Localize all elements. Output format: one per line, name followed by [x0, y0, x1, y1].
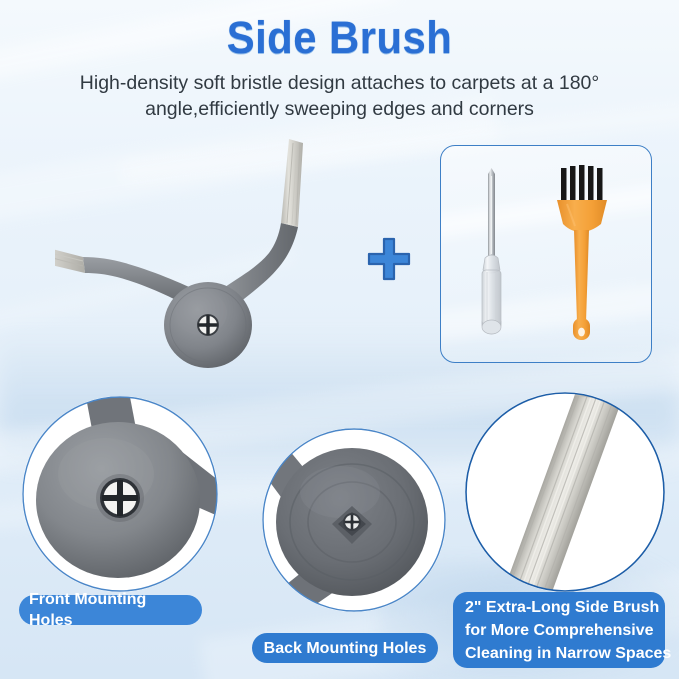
- plus-icon: [365, 235, 413, 283]
- side-brush-product-image: [55, 135, 355, 375]
- subtitle-line-2: angle,efficiently sweeping edges and cor…: [34, 96, 645, 122]
- page-title: Side Brush: [24, 12, 655, 64]
- caption-front-mounting-holes: Front Mounting Holes: [19, 595, 202, 625]
- caption-line-3: Cleaning in Narrow Spaces: [465, 642, 671, 665]
- caption-text: Back Mounting Holes: [264, 638, 427, 659]
- subtitle-line-1: High-density soft bristle design attache…: [80, 72, 599, 94]
- caption-extra-long-bristles: 2" Extra-Long Side Brush for More Compre…: [453, 592, 665, 668]
- bristle-tuft-right: [281, 139, 303, 227]
- caption-line-1: 2" Extra-Long Side Brush: [465, 596, 659, 619]
- cleaning-brush-icon: [557, 165, 607, 340]
- bristle-tuft-left: [55, 239, 85, 273]
- caption-back-mounting-holes: Back Mounting Holes: [252, 633, 438, 663]
- hub-screw: [197, 314, 219, 336]
- detail-circle-front-mounting-holes: [22, 396, 218, 592]
- screwdriver-icon: [482, 168, 501, 334]
- detail-circle-extra-long-bristles: [465, 392, 665, 592]
- infographic-page: Side Brush High-density soft bristle des…: [0, 0, 679, 679]
- accessory-kit-box: [440, 145, 652, 363]
- detail-circle-back-mounting-holes: [262, 428, 446, 612]
- caption-text: Front Mounting Holes: [29, 589, 192, 631]
- page-subtitle: High-density soft bristle design attache…: [34, 70, 645, 122]
- caption-line-2: for More Comprehensive: [465, 619, 653, 642]
